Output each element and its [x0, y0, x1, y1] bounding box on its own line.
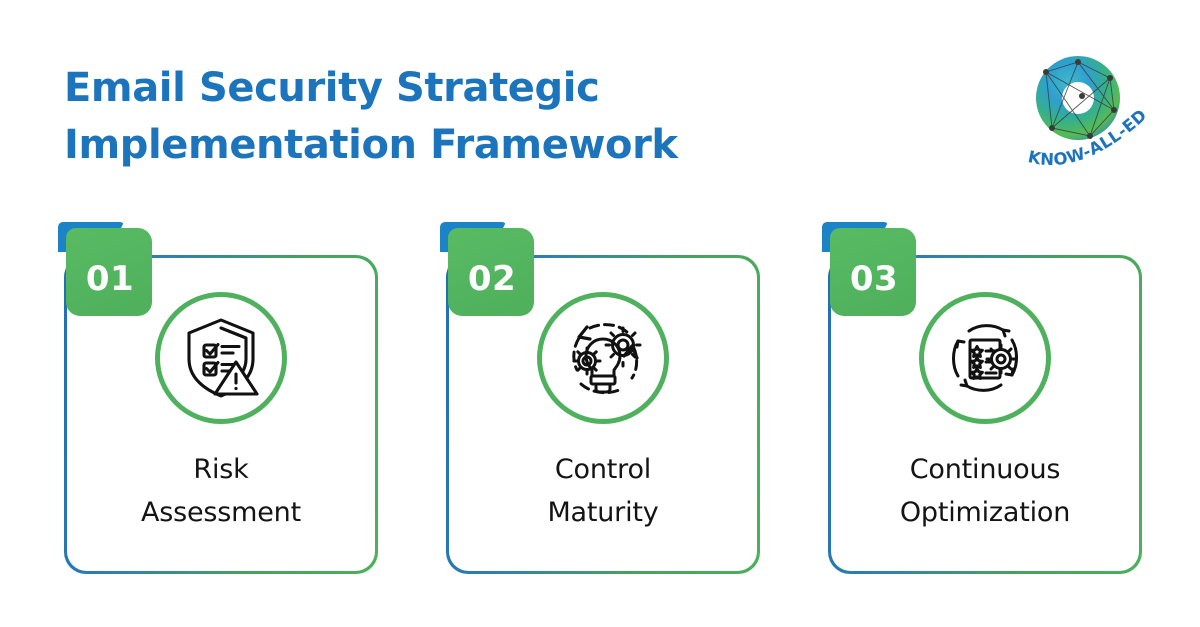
shield-checklist-warning-icon — [155, 292, 287, 424]
card-1-label-line-1: Risk — [67, 448, 376, 492]
page-title-line-1: Email Security Strategic — [64, 60, 824, 117]
page-title-line-2: Implementation Framework — [64, 117, 824, 174]
infographic-page: Email Security Strategic Implementation … — [0, 0, 1200, 627]
cards-row: Risk Assessment 01 — [0, 222, 1200, 574]
page-title: Email Security Strategic Implementation … — [64, 60, 824, 174]
card-2-label-line-1: Control — [449, 448, 758, 492]
card-3-label-line-2: Optimization — [831, 491, 1140, 535]
card-3-label: Continuous Optimization — [831, 448, 1140, 535]
card-3-label-line-1: Continuous — [831, 448, 1140, 492]
know-all-edge-logo[interactable]: KNOW-ALL-EDGE — [1016, 48, 1176, 176]
header: Email Security Strategic Implementation … — [0, 0, 1200, 200]
card-step-1[interactable]: Risk Assessment 01 — [58, 222, 378, 574]
lightbulb-gears-cycle-icon — [537, 292, 669, 424]
card-step-2[interactable]: Control Maturity 02 — [440, 222, 760, 574]
card-2-label: Control Maturity — [449, 448, 758, 535]
card-2-number-badge: 02 — [448, 228, 534, 316]
card-1-label-line-2: Assessment — [67, 491, 376, 535]
card-step-3[interactable]: Continuous Optimization 03 — [822, 222, 1142, 574]
card-2-label-line-2: Maturity — [449, 491, 758, 535]
card-3-number-badge: 03 — [830, 228, 916, 316]
card-1-label: Risk Assessment — [67, 448, 376, 535]
logo-torus-mark — [1036, 56, 1120, 140]
document-stars-gear-cycle-icon — [919, 292, 1051, 424]
card-1-number-badge: 01 — [66, 228, 152, 316]
